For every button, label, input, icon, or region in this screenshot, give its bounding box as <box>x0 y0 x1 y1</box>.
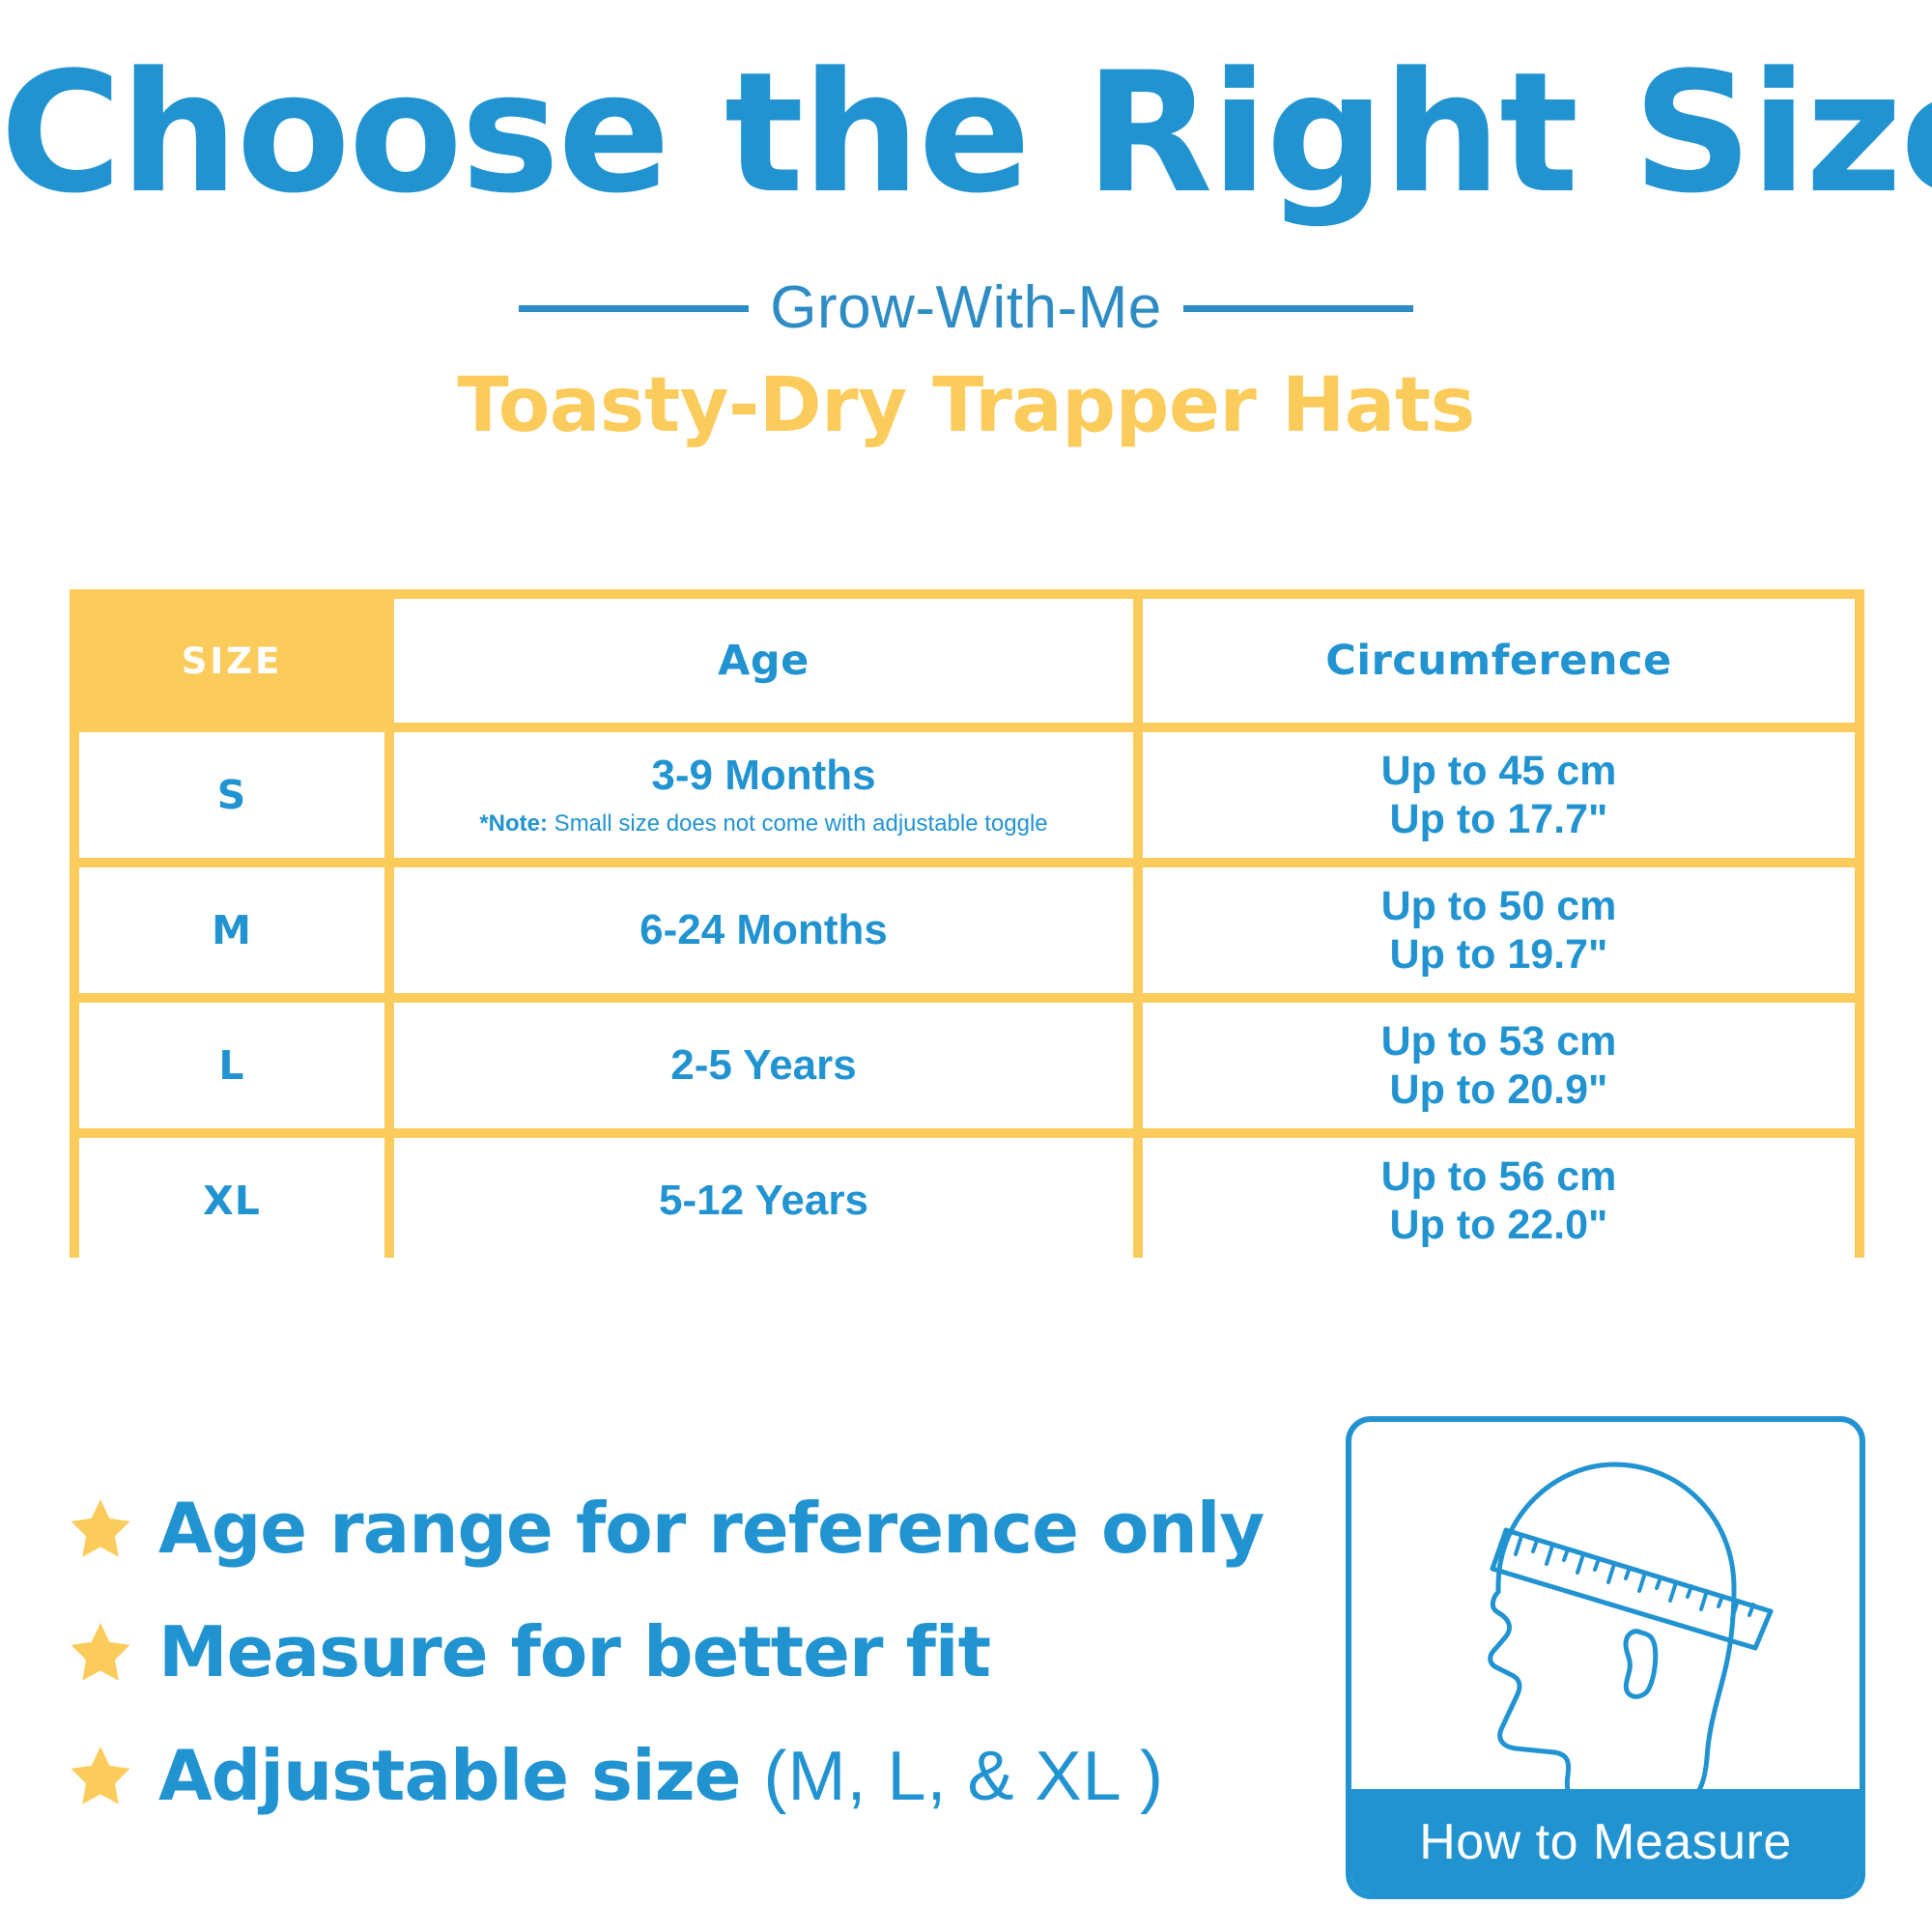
size-table: SIZE Age Circumference S 3-9 Months *Not… <box>70 589 1864 1258</box>
table-cell-size: XL <box>79 1138 384 1264</box>
table-cell-size: S <box>79 732 384 858</box>
table-header-row: SIZE Age Circumference <box>79 599 1855 723</box>
table-cell-age: 6-24 Months <box>394 867 1133 993</box>
size-value: L <box>218 1042 244 1089</box>
size-value: S <box>217 772 247 818</box>
circumference-in: Up to 20.9" <box>1390 1065 1608 1114</box>
list-item-suffix: (M, L, & XL ) <box>764 1738 1164 1815</box>
list-item: Adjustable size (M, L, & XL ) <box>70 1714 1277 1837</box>
page-title: Choose the Right Size <box>0 46 1932 220</box>
how-to-measure-caption[interactable]: How to Measure <box>1350 1789 1861 1895</box>
circumference-cm: Up to 53 cm <box>1381 1017 1617 1065</box>
list-item-label: Adjustable size (M, L, & XL ) <box>158 1737 1164 1815</box>
table-header-age-label: Age <box>718 637 810 685</box>
collection-subtitle: Grow-With-Me <box>770 273 1162 343</box>
divider-line-right <box>1183 305 1413 312</box>
list-item-label: Age range for reference only <box>158 1490 1264 1567</box>
table-cell-size: L <box>79 1003 384 1128</box>
list-item-label: Measure for better fit <box>158 1613 990 1690</box>
table-cell-circumference: Up to 56 cm Up to 22.0" <box>1143 1138 1855 1264</box>
table-cell-age: 5-12 Years <box>394 1138 1133 1264</box>
table-header-size: SIZE <box>79 599 384 723</box>
table-header-age: Age <box>394 599 1133 723</box>
circumference-in: Up to 17.7" <box>1390 795 1608 843</box>
circumference-cm: Up to 50 cm <box>1381 882 1617 930</box>
table-row: L 2-5 Years Up to 53 cm Up to 20.9" <box>79 1003 1855 1128</box>
size-note-prefix: *Note: <box>479 810 548 837</box>
divider-line-left <box>519 305 749 312</box>
table-cell-age: 2-5 Years <box>394 1003 1133 1128</box>
size-note-text: Small size does not come with adjustable… <box>548 810 1048 837</box>
list-item: Age range for reference only <box>70 1466 1277 1590</box>
age-value: 5-12 Years <box>659 1175 868 1227</box>
size-chart-infographic: Choose the Right Size Grow-With-Me Toast… <box>0 0 1932 1932</box>
table-cell-circumference: Up to 45 cm Up to 17.7" <box>1143 732 1855 858</box>
product-title: Toasty-Dry Trapper Hats <box>0 359 1932 452</box>
list-item: Measure for better fit <box>70 1590 1277 1714</box>
size-value: XL <box>203 1178 261 1224</box>
table-header-circumference: Circumference <box>1143 599 1855 723</box>
star-icon <box>70 1622 131 1682</box>
table-cell-circumference: Up to 50 cm Up to 19.7" <box>1143 867 1855 993</box>
circumference-in: Up to 19.7" <box>1390 930 1608 979</box>
table-row: XL 5-12 Years Up to 56 cm Up to 22.0" <box>79 1138 1855 1264</box>
age-value: 2-5 Years <box>670 1039 856 1092</box>
table-header-circumference-label: Circumference <box>1325 637 1671 685</box>
table-cell-size: M <box>79 867 384 993</box>
age-value: 3-9 Months <box>651 750 875 802</box>
size-value: M <box>212 907 252 953</box>
head-with-measuring-tape-icon <box>1351 1422 1860 1808</box>
table-cell-age: 3-9 Months *Note: Small size does not co… <box>394 732 1133 858</box>
star-icon <box>70 1746 131 1805</box>
star-icon <box>70 1498 131 1558</box>
age-value: 6-24 Months <box>639 904 888 956</box>
circumference-in: Up to 22.0" <box>1390 1201 1608 1249</box>
highlights-list: Age range for reference only Measure for… <box>70 1466 1277 1837</box>
circumference-cm: Up to 56 cm <box>1381 1152 1617 1201</box>
how-to-measure-card[interactable]: How to Measure <box>1346 1416 1865 1899</box>
table-cell-circumference: Up to 53 cm Up to 20.9" <box>1143 1003 1855 1128</box>
subtitle-row: Grow-With-Me <box>0 273 1932 343</box>
table-row: M 6-24 Months Up to 50 cm Up to 19.7" <box>79 867 1855 993</box>
table-header-size-label: SIZE <box>182 640 283 682</box>
size-note: *Note: Small size does not come with adj… <box>479 808 1047 840</box>
table-row: S 3-9 Months *Note: Small size does not … <box>79 732 1855 858</box>
circumference-cm: Up to 45 cm <box>1381 747 1617 795</box>
